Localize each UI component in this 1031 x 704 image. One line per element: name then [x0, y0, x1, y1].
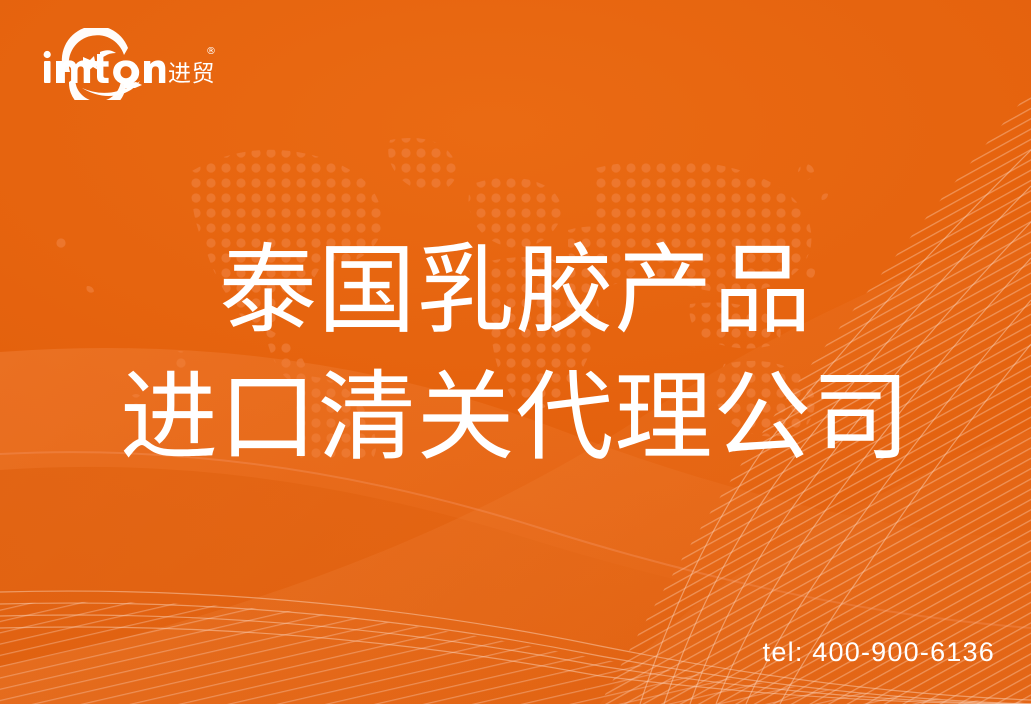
logo-trademark-symbol: ®: [206, 46, 216, 57]
headline-line-1: 泰国乳胶产品: [0, 228, 1031, 355]
headline-line-2: 进口清关代理公司: [0, 355, 1031, 482]
logo-chinese-name: 进贸通: [168, 61, 216, 87]
promo-banner: 进贸通 ® 泰国乳胶产品 进口清关代理公司 tel: 400-900-6136: [0, 0, 1031, 704]
contact-phone[interactable]: tel: 400-900-6136: [763, 637, 995, 668]
headline: 泰国乳胶产品 进口清关代理公司: [0, 228, 1031, 483]
logo-swoosh-icon: [82, 81, 142, 96]
imton-logo[interactable]: 进贸通 ®: [38, 28, 216, 100]
